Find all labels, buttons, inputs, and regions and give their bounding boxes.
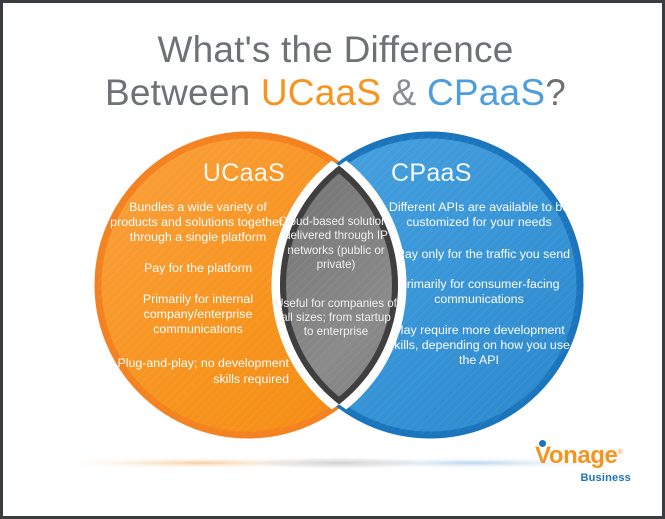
title-line-2: Between UCaaS & CPaaS? [3,72,665,115]
vonage-person-dot-icon [539,440,546,447]
title-ampersand: & [381,72,427,113]
cpaas-bullet-2: Pay only for the traffic you send [388,247,570,262]
venn-diagram: UCaaS Bundles a wide variety of products… [3,130,665,470]
title-ucaas-word: UCaaS [261,72,381,113]
title-line-1: What's the Difference [3,29,665,72]
vonage-wordmark: Vonage® [523,444,633,468]
infographic-canvas: What's the Difference Between UCaaS & CP… [0,0,665,519]
overlap-bullet-2: Useful for companies of all sizes; from … [275,297,397,340]
ucaas-bullet-3: Primarily for internal company/enterpris… [107,292,289,337]
ucaas-heading: UCaaS [107,158,289,189]
page-title: What's the Difference Between UCaaS & CP… [3,29,665,115]
cpaas-bullet-4: May require more development skills, dep… [388,323,570,368]
title-cpaas-word: CPaaS [427,72,545,113]
cpaas-text-group: CPaaS Different APIs are available to be… [388,158,570,382]
ucaas-bullet-1: Bundles a wide variety of products and s… [107,200,289,245]
title-question-mark: ? [545,72,566,113]
title-between-text: Between [105,72,261,113]
center-shadow [239,457,439,469]
overlap-text-group: Cloud-based solutions delivered through … [275,215,397,353]
ucaas-text-group: UCaaS Bundles a wide variety of products… [107,158,289,400]
cpaas-bullet-1: Different APIs are available to be custo… [388,200,570,230]
cpaas-heading: CPaaS [388,158,570,189]
overlap-bullet-1: Cloud-based solutions delivered through … [275,215,397,273]
cpaas-bullet-3: Primarily for consumer-facing communicat… [388,277,570,307]
ucaas-bullet-2: Pay for the platform [107,261,289,276]
ucaas-bullet-4: Plug-and-play; no development skills req… [107,356,289,386]
vonage-business-subtitle: Business [523,472,633,484]
registered-trademark-icon: ® [618,449,623,456]
vonage-business-logo[interactable]: Vonage® Business [523,444,633,492]
vonage-word-text: Vonage [535,442,618,469]
